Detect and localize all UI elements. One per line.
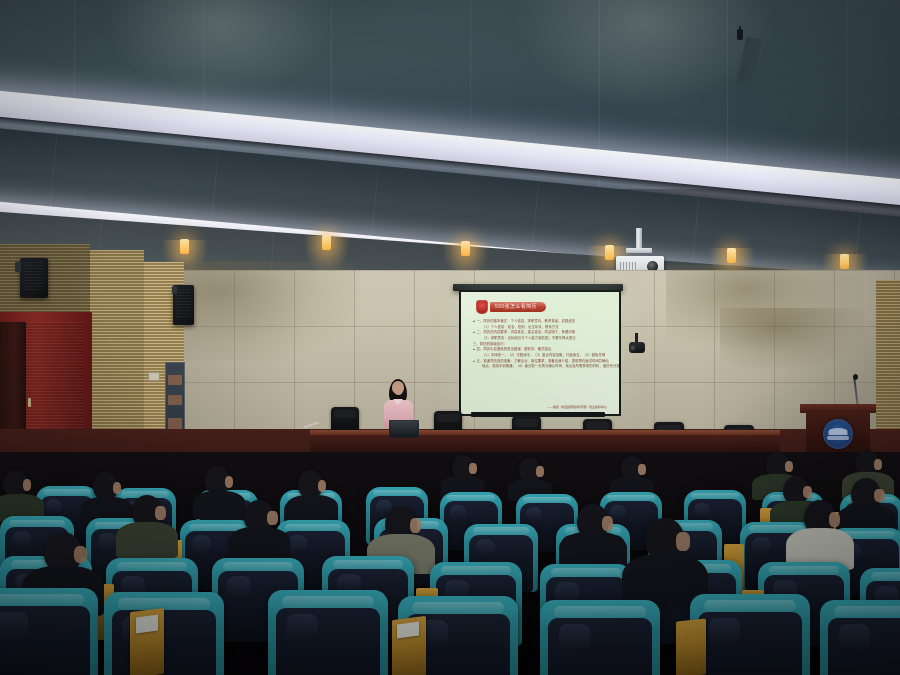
security-camera-icon [629, 333, 645, 353]
audience-head [93, 472, 118, 500]
slide-title: 500强怎么看简历 [490, 302, 546, 312]
auditorium-seat-foreground[interactable] [540, 600, 660, 675]
desk-paper [136, 614, 158, 633]
ceiling-camera-icon [735, 26, 745, 42]
auditorium-seat-foreground[interactable] [268, 590, 388, 675]
presenter-face [394, 385, 403, 395]
auditorium-seat-foreground[interactable] [820, 600, 900, 675]
wall-outlet-icon [148, 372, 160, 381]
downlight-6 [840, 254, 849, 269]
presenter-laptop[interactable] [389, 420, 419, 438]
audience-shoulders [286, 495, 338, 523]
seat-desk-tablet [676, 618, 706, 675]
audience-shoulders-uniform [116, 522, 178, 558]
slide-footer: ——摘自《校园招聘指导手册》就业指导中心 [547, 405, 607, 409]
slide-body: 一、简历的基本格式：个人信息，求职意向，教育背景，实践经历 （1）个人信息：姓名… [473, 319, 612, 370]
loudspeaker-icon-left [20, 258, 48, 298]
party-flame-emblem-icon [476, 300, 488, 314]
audience-head [205, 466, 230, 494]
downlight-3 [461, 241, 470, 256]
auditorium-seat-foreground[interactable] [0, 588, 98, 675]
slide-title-row: 500强怎么看简历 [476, 300, 612, 314]
audience-head [298, 470, 323, 498]
audience-head [783, 476, 809, 504]
projection-screen: 500强怎么看简历 一、简历的基本格式：个人信息，求职意向，教育背景，实践经历 … [459, 290, 621, 416]
downlight-5 [727, 248, 736, 263]
presentation-slide: 500强怎么看简历 一、简历的基本格式：个人信息，求职意向，教育背景，实践经历 … [461, 292, 619, 414]
auditorium-seat-foreground[interactable] [690, 594, 810, 675]
speaker-bracket [15, 262, 21, 272]
door-handle-icon[interactable] [28, 398, 31, 407]
speaker-bracket [172, 286, 177, 294]
downlight-1 [180, 239, 189, 254]
downlight-4 [605, 245, 614, 260]
auditorium-photo: 500强怎么看简历 一、简历的基本格式：个人信息，求职意向，教育背景，实践经历 … [0, 0, 900, 675]
slide-line: 地点，保持手机畅通；（6）面试前一天再次确认时间、地点及所需携带的材料，做好充分… [482, 364, 612, 370]
audience-shoulders [193, 491, 245, 519]
audience-head [3, 470, 28, 497]
auditorium-seat-foreground[interactable] [104, 592, 224, 675]
public-security-badge-icon [823, 419, 853, 449]
projector-mount-pole [636, 228, 642, 250]
downlight-2 [322, 235, 331, 250]
